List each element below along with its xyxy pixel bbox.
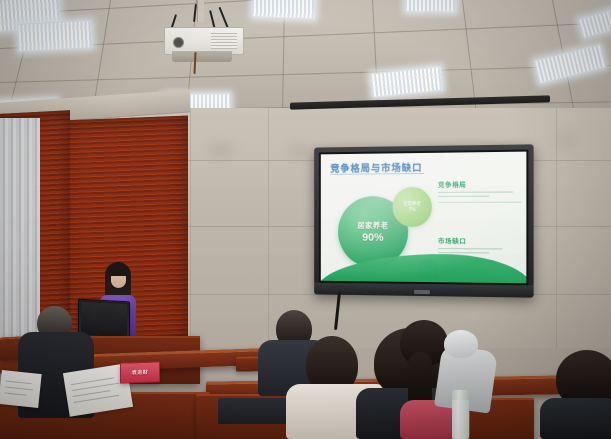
market-gap-block: 市场缺口 [438,235,521,254]
white-thermos-bottle [452,390,469,439]
slide-title-underline [330,173,424,175]
audience-member-edge [540,398,611,439]
bubble-secondary: 社区养老 7% [392,187,432,227]
window-curtain [0,118,40,348]
nameplate-text: 袁进财 [132,369,149,377]
projector-ceiling-mount [197,0,204,22]
bubble-secondary-value: 7% [409,207,416,213]
desk-nameplate: 袁进财 [120,361,160,383]
audience-member-right-gray-head [444,330,478,358]
projector-vent [211,32,237,49]
conference-room-photo: 竞争格局与市场缺口 居家养老 90% 社区养老 7% 机构养老 3% 竞争格局 [0,0,611,439]
ceiling-panel-light [253,0,316,19]
presenter-fringe [109,268,128,276]
ceiling-projector [150,0,260,72]
projector-base-plate [172,51,232,62]
display-brand-logo [414,290,430,294]
slide-text-column: 竞争格局 市场缺口 [438,178,521,260]
printed-documents [0,370,42,408]
block-divider [438,202,521,203]
wall-mounted-flat-panel-display[interactable]: 竞争格局与市场缺口 居家养老 90% 社区养老 7% 机构养老 3% 竞争格局 [314,144,533,297]
thermos-cap [452,390,469,400]
competitive-landscape-block: 竞争格局 [438,178,521,203]
competitive-landscape-heading: 竞争格局 [438,178,521,189]
bubble-primary-label: 居家养老 [357,220,388,231]
projector-lens [173,37,184,48]
body-text-line [438,195,489,197]
ceiling-panel-light [406,0,456,12]
dangling-cable [193,52,196,74]
ceiling-panel-light [17,20,92,52]
presentation-slide: 竞争格局与市场缺口 居家养老 90% 社区养老 7% 机构养老 3% 竞争格局 [321,152,527,284]
monitor-screen [81,302,127,337]
body-text-line [438,191,513,193]
bubble-primary-value: 90% [362,232,383,244]
market-gap-heading: 市场缺口 [438,235,521,245]
body-text-line [438,248,503,250]
